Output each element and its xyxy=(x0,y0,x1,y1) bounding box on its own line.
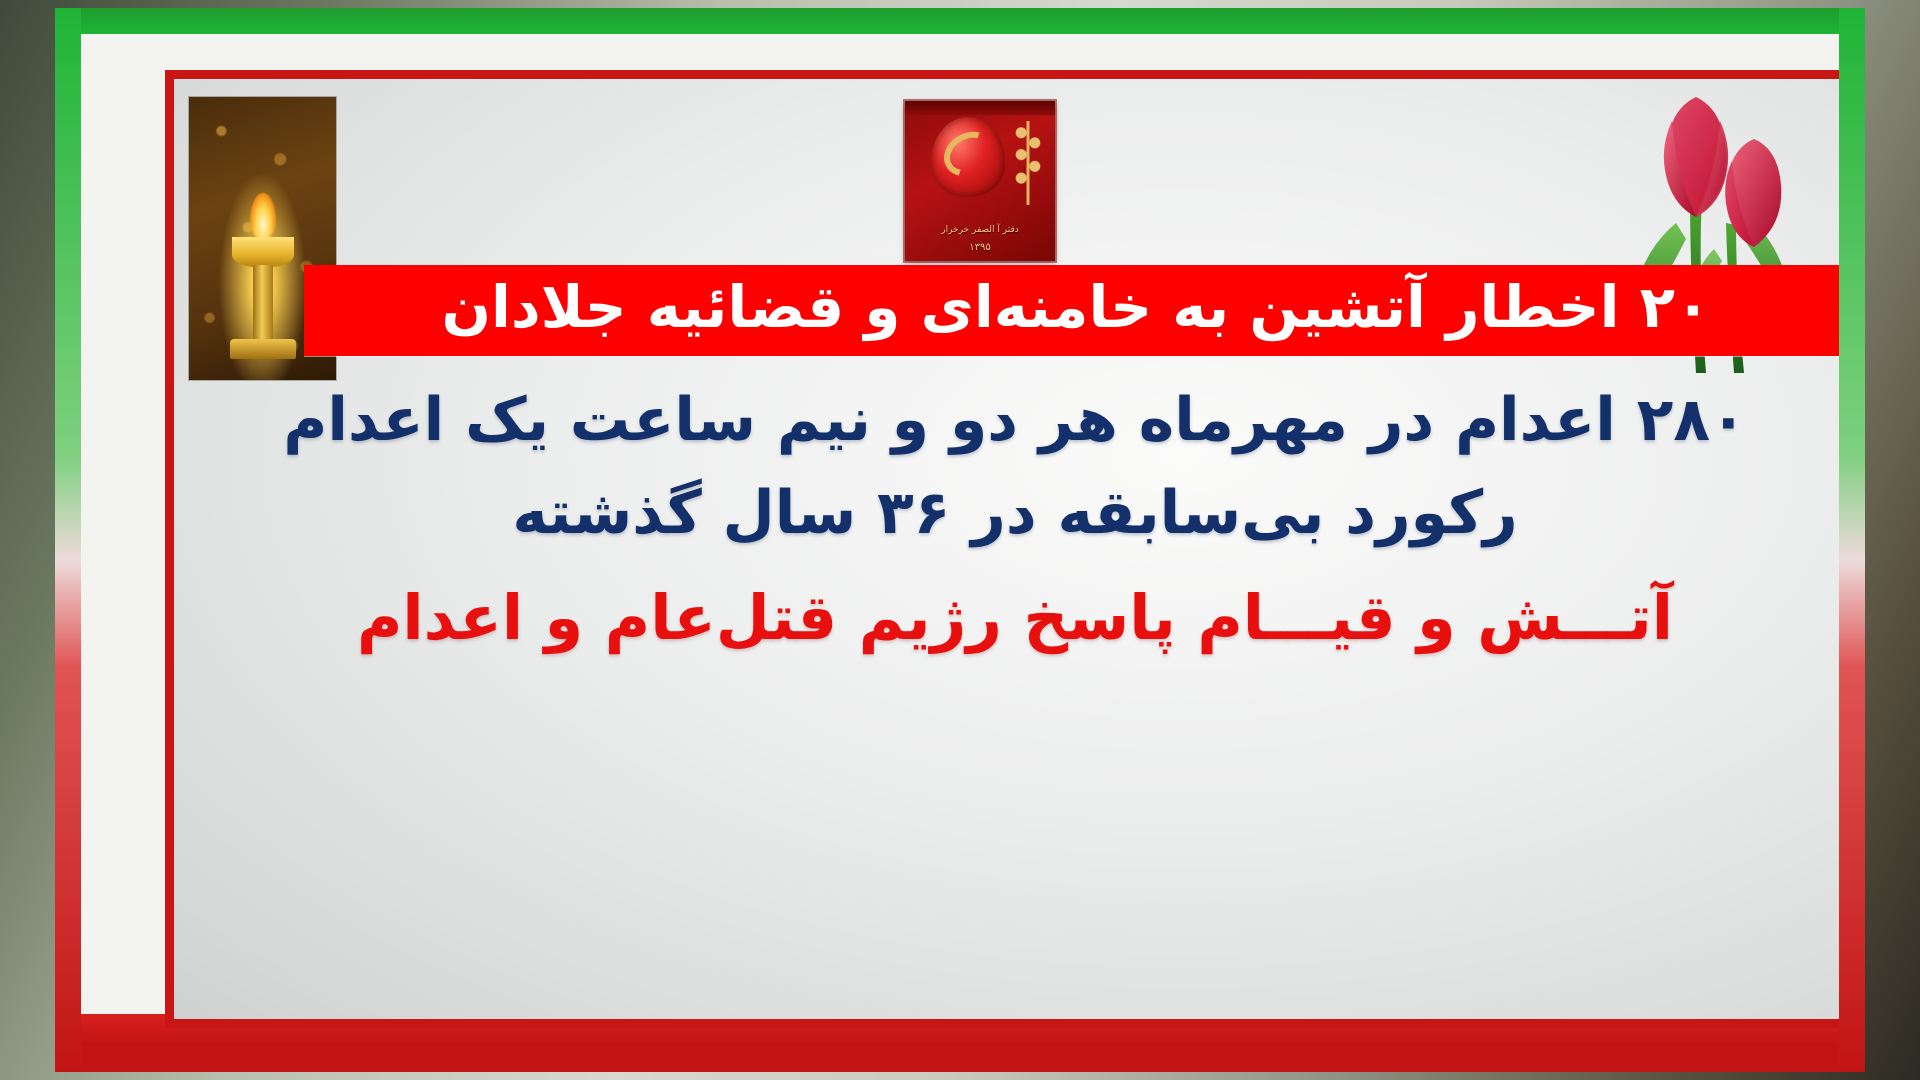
tricolor-flag-border: دفتر آ الصفر خرخرار ۱۳۹۵ xyxy=(55,8,1865,1072)
emblem-wheat-icon xyxy=(1011,121,1045,205)
inner-red-frame: دفتر آ الصفر خرخرار ۱۳۹۵ xyxy=(165,70,1865,1028)
content-plate: دفتر آ الصفر خرخرار ۱۳۹۵ xyxy=(174,79,1856,1019)
poster-root: دفتر آ الصفر خرخرار ۱۳۹۵ xyxy=(0,0,1920,1080)
torch-cup xyxy=(232,237,294,267)
emblem-year: ۱۳۹۵ xyxy=(905,242,1055,253)
organisation-emblem: دفتر آ الصفر خرخرار ۱۳۹۵ xyxy=(905,101,1055,261)
flame-icon xyxy=(250,193,276,239)
headline-red-banner: ۲۰ اخطار آتشین به خامنه‌ای و قضائیه جلاد… xyxy=(304,265,1848,356)
emblem-drop-icon xyxy=(931,117,1005,197)
emblem-caption: دفتر آ الصفر خرخرار xyxy=(905,225,1055,235)
line-record: رکورد بی‌سابقه در ۳۶ سال گذشته xyxy=(174,479,1856,548)
line-uprising: آتـــش و قیـــام پاسخ رژیم قتل‌عام و اعد… xyxy=(174,582,1856,653)
line-executions: ۲۸۰ اعدام در مهرماه هر دو و نیم ساعت یک … xyxy=(174,386,1856,455)
emblem-top-band xyxy=(905,101,1055,115)
text-stack: ۲۰ اخطار آتشین به خامنه‌ای و قضائیه جلاد… xyxy=(174,265,1856,653)
